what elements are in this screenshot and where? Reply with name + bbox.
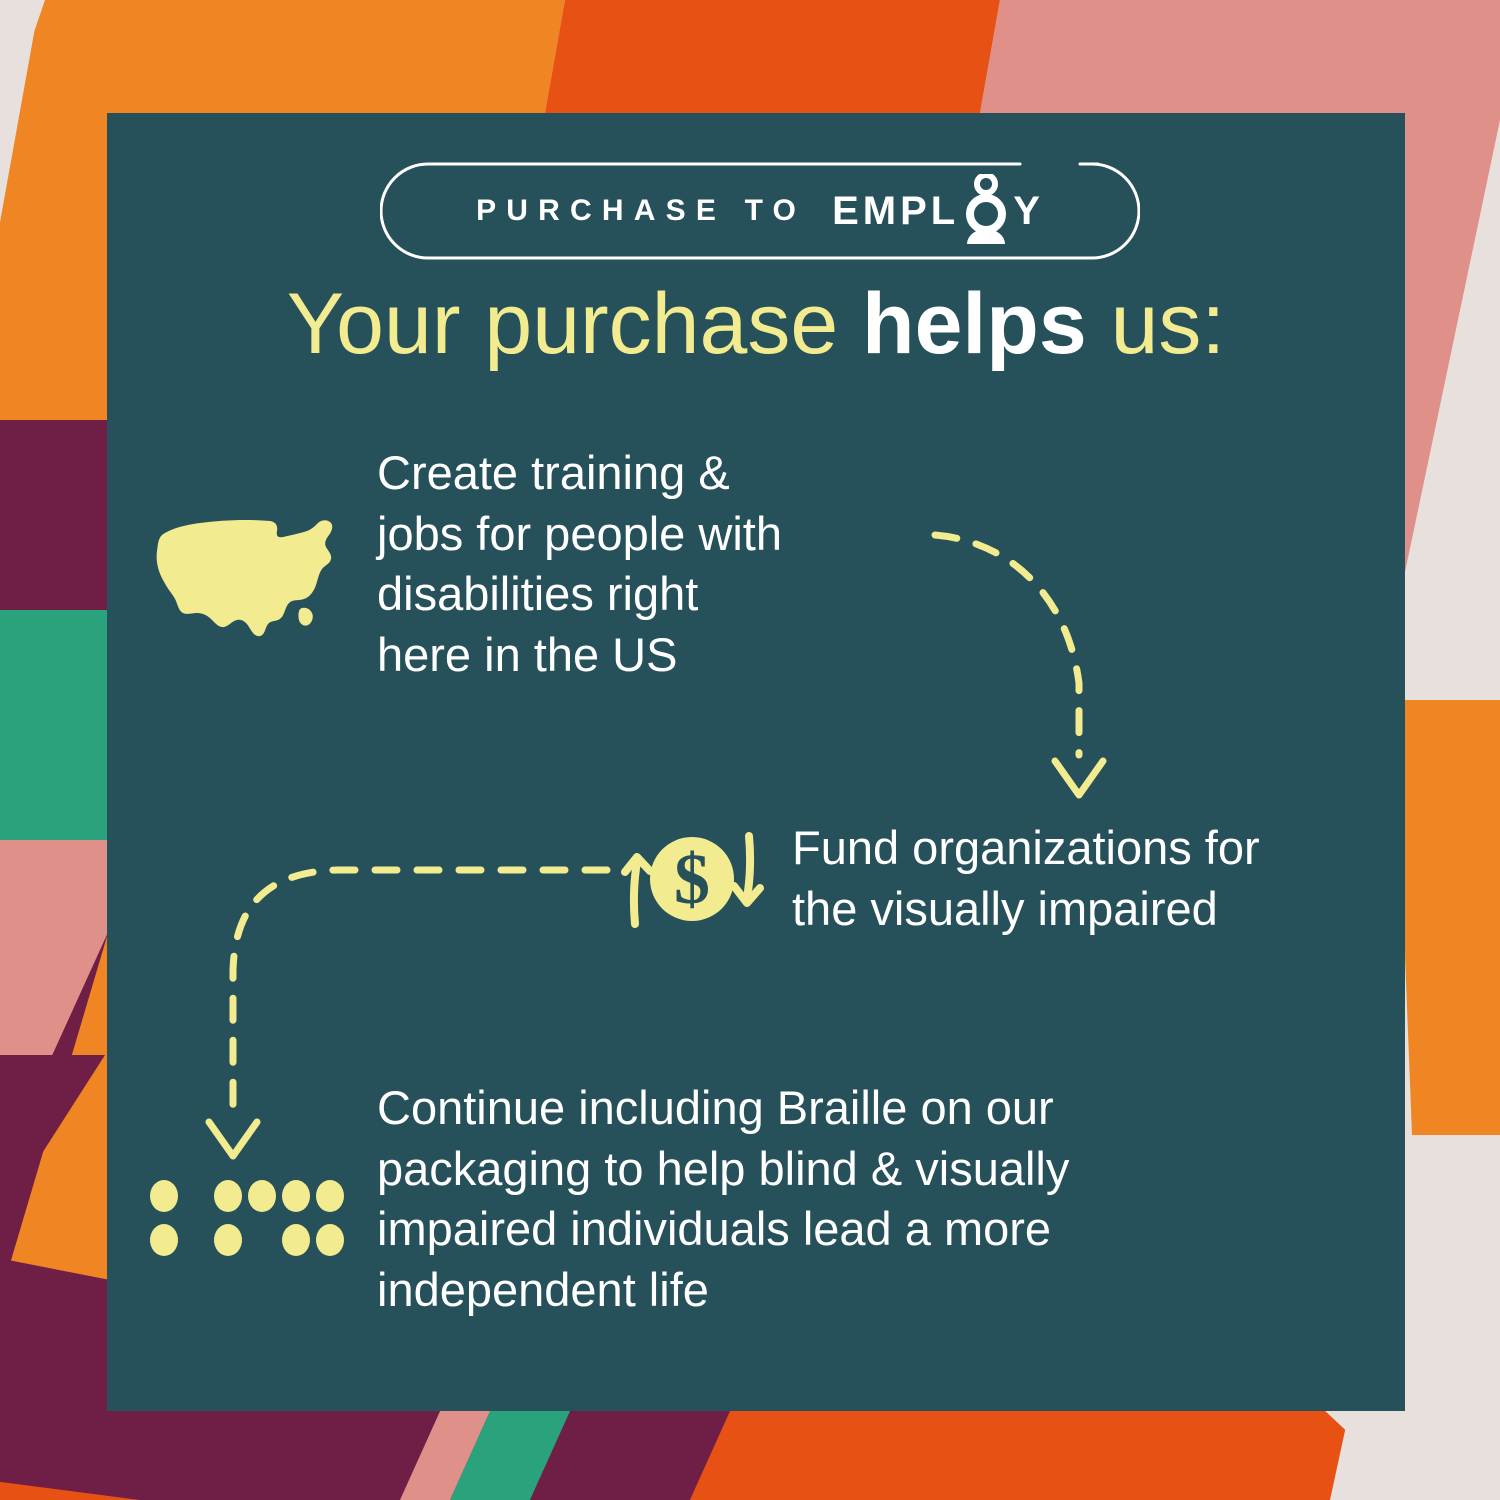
braille-dot-grid (150, 1178, 345, 1258)
svg-text:$: $ (674, 839, 710, 919)
benefit-row-fund: $ Fund organizations for the visually im… (612, 818, 1260, 939)
brand-badge: PURCHASE TOEMPLY (380, 161, 1140, 261)
headline-part-2: helps (862, 276, 1087, 372)
headline-part-3: us: (1087, 276, 1226, 372)
dollar-coin-cycle-icon: $ (612, 824, 772, 934)
dashed-curve-2 (187, 858, 617, 1178)
us-map-icon (137, 443, 362, 638)
headline-part-1: Your purchase (287, 276, 862, 372)
coin-with-arrows: $ (617, 824, 767, 934)
stripe-orange-right (1395, 700, 1500, 1135)
infographic-canvas: PURCHASE TOEMPLY Your purchase helps us:… (0, 0, 1500, 1500)
page-title: Your purchase helps us: (107, 281, 1405, 367)
dashed-curve-1 (927, 523, 1157, 813)
badge-text-bold-start: EMPL (832, 189, 959, 234)
dashed-arrow-coin-to-braille (187, 858, 617, 1178)
benefit-text-jobs: Create training & jobs for people with d… (377, 443, 782, 686)
benefit-text-fund: Fund organizations for the visually impa… (792, 818, 1260, 939)
badge-text-bold-end: Y (1013, 189, 1044, 234)
us-map-shape (152, 513, 347, 638)
person-o-icon (959, 191, 1013, 231)
benefit-row-jobs: Create training & jobs for people with d… (137, 443, 782, 686)
content-card: PURCHASE TOEMPLY Your purchase helps us:… (107, 113, 1405, 1411)
badge-text-row: PURCHASE TOEMPLY (380, 161, 1140, 261)
dashed-arrow-map-to-coin (927, 523, 1157, 813)
badge-text-light: PURCHASE TO (476, 194, 806, 228)
